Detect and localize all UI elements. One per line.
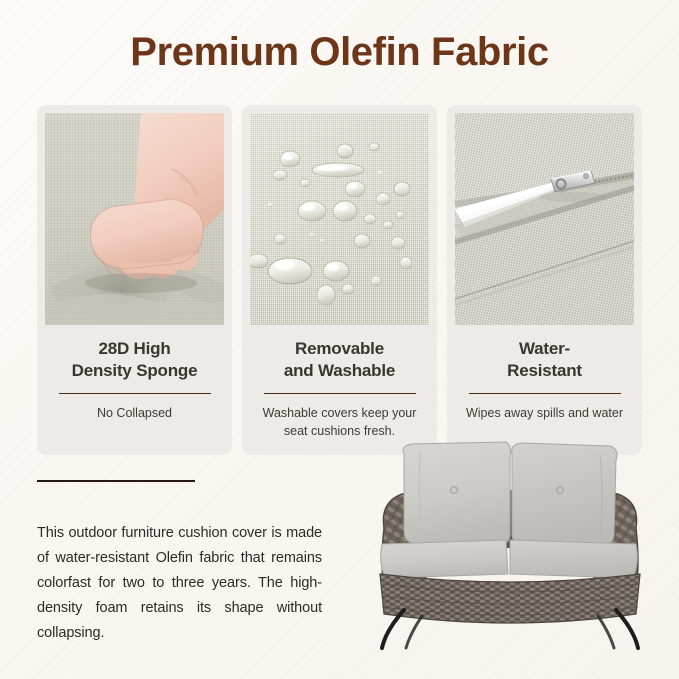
product-infographic-page: Premium Olefin Fabric [0,0,679,679]
card-title: Water- Resistant [503,338,586,382]
card-title-line2: Density Sponge [72,361,198,380]
description-paragraph: This outdoor furniture cushion cover is … [37,521,322,646]
card-divider [59,393,211,395]
feature-card-removable-washable: Removable and Washable Washable covers k… [242,105,437,455]
feature-card-density-sponge: 28D High Density Sponge No Collapsed [37,105,232,455]
card-title-line1: 28D High [98,339,170,358]
card-title-line2: Resistant [507,361,582,380]
card-title: Removable and Washable [280,338,399,382]
feature-cards-row: 28D High Density Sponge No Collapsed [37,105,643,455]
card-subtitle: No Collapsed [89,405,180,423]
wicker-loveseat-photo [360,432,660,654]
card-subtitle: Wipes away spills and water [458,405,631,423]
card-title-line2: and Washable [284,361,395,380]
feature-card-water-resistant: Water- Resistant Wipes away spills and w… [447,105,642,455]
page-title: Premium Olefin Fabric [0,30,679,75]
card-divider [469,393,621,395]
card-divider [264,393,416,395]
water-droplets-fabric-photo [250,113,429,325]
fist-pressing-cushion-photo [45,113,224,325]
section-divider-rule [37,480,195,482]
zipper-cushion-cover-photo [455,113,634,325]
card-title-line1: Removable [295,339,384,358]
card-title: 28D High Density Sponge [68,338,202,382]
card-title-line1: Water- [519,339,570,358]
